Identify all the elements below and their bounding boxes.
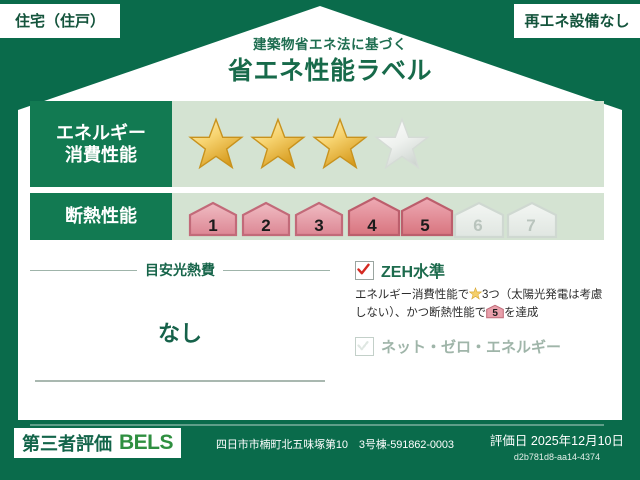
net-zero-energy-title: ネット・ゼロ・エネルギー (381, 336, 561, 357)
heading-rule-right (223, 270, 330, 271)
label-subtitle: 建築物省エネ法に基づく (180, 38, 480, 53)
insulation-performance-row: 断熱性能 1 (30, 193, 604, 240)
insulation-grade-1: 1 (188, 201, 238, 237)
section-divider (35, 380, 325, 382)
insulation-performance-value: 1 2 3 (172, 193, 604, 240)
utility-cost-heading-row: 目安光熱費 (30, 260, 330, 280)
label-title-block: 建築物省エネ法に基づく 省エネ性能ラベル (180, 38, 480, 85)
zeh-heading-row: ZEH水準 (355, 258, 610, 282)
insulation-grade-4: 4 (347, 196, 397, 237)
energy-performance-label: エネルギー 消費性能 (30, 101, 172, 187)
evaluation-meta: 評価日 2025年12月10日 d2b781d8-aa14-4374 (490, 430, 624, 462)
zeh-desc-star-count: 3つ（太陽光発電 (482, 289, 568, 301)
bels-badge: 第三者評価 BELS (14, 428, 181, 458)
insulation-grade-2-number: 2 (241, 217, 291, 234)
zeh-description: エネルギー消費性能で3つ（太陽光発電は考慮しない）、かつ断熱性能で5を達成 (355, 287, 610, 323)
insulation-grade-6: 6 (453, 201, 503, 237)
insulation-grade-3: 3 (294, 201, 344, 237)
zeh-section: ZEH水準 エネルギー消費性能で3つ（太陽光発電は考慮しない）、かつ断熱性能で5… (355, 258, 610, 357)
insulation-performance-label-text: 断熱性能 (65, 205, 137, 228)
utility-cost-section: 目安光熱費 なし (30, 258, 330, 406)
building-type-tag-label: 住宅（住戸） (15, 14, 105, 29)
insulation-grade-2: 2 (241, 201, 291, 237)
zeh-title: ZEH水準 (381, 258, 445, 282)
heading-rule-left (30, 270, 137, 271)
utility-cost-heading: 目安光熱費 (145, 260, 215, 280)
zeh-desc-part3: を達成 (504, 307, 538, 319)
energy-performance-row: エネルギー 消費性能 (30, 101, 604, 187)
insulation-grade-3-number: 3 (294, 217, 344, 234)
property-address: 四日市市楠町北五味塚第10 3号棟-591862-0003 (216, 436, 454, 452)
label-body-area: 目安光熱費 なし ZEH水準 エネルギー消費性能で3つ（太陽光発電は考慮しない）… (30, 258, 604, 406)
zeh-checkbox[interactable] (355, 261, 374, 280)
page-title: 省エネ性能ラベル (180, 58, 480, 86)
insulation-grade-scale: 1 2 3 (188, 196, 556, 237)
star-icon-empty-4 (374, 116, 430, 172)
bels-badge-jp-label: 第三者評価 (22, 430, 112, 456)
energy-performance-label-line1: エネルギー (56, 122, 146, 145)
bels-energy-label: 住宅（住戸） 再エネ設備なし 建築物省エネ法に基づく 省エネ性能ラベル エネルギ… (0, 0, 640, 480)
net-zero-energy-row: ネット・ゼロ・エネルギー (355, 336, 610, 357)
evaluation-date: 評価日 2025年12月10日 (490, 430, 624, 449)
check-icon-disabled (357, 339, 370, 352)
footer-top-divider (30, 424, 604, 426)
check-icon (357, 263, 370, 276)
insulation-grade-6-number: 6 (453, 217, 503, 234)
star-icon-filled-3 (312, 116, 368, 172)
insulation-grade-5-number: 5 (400, 217, 450, 234)
insulation-grade-1-number: 1 (188, 217, 238, 234)
insulation-grade-7: 7 (506, 201, 556, 237)
evaluation-uid: d2b781d8-aa14-4374 (490, 452, 624, 462)
utility-cost-value: なし (30, 316, 330, 348)
star-rating (188, 116, 430, 172)
renewable-equipment-tag-label: 再エネ設備なし (524, 14, 629, 29)
insulation-grade-4-number: 4 (347, 217, 397, 234)
net-zero-energy-checkbox[interactable] (355, 337, 374, 356)
bels-badge-en-label: BELS (119, 431, 173, 455)
insulation-grade-7-number: 7 (506, 217, 556, 234)
insulation-performance-label: 断熱性能 (30, 193, 172, 240)
star-icon-filled-1 (188, 116, 244, 172)
star-icon-inline (469, 287, 482, 300)
energy-performance-label-line2: 消費性能 (65, 144, 137, 167)
building-type-tag: 住宅（住戸） (0, 4, 120, 38)
label-footer: 第三者評価 BELS 四日市市楠町北五味塚第10 3号棟-591862-0003… (0, 424, 640, 480)
insulation-grade-5: 5 (400, 196, 450, 237)
renewable-equipment-tag: 再エネ設備なし (514, 4, 640, 38)
performance-rows: エネルギー 消費性能 (30, 101, 604, 246)
energy-performance-value (172, 101, 604, 187)
zeh-desc-part1: エネルギー消費性能で (355, 289, 469, 301)
star-icon-filled-2 (250, 116, 306, 172)
insulation-grade-inline-badge: 5 (486, 304, 504, 319)
insulation-grade-inline-number: 5 (486, 309, 504, 319)
